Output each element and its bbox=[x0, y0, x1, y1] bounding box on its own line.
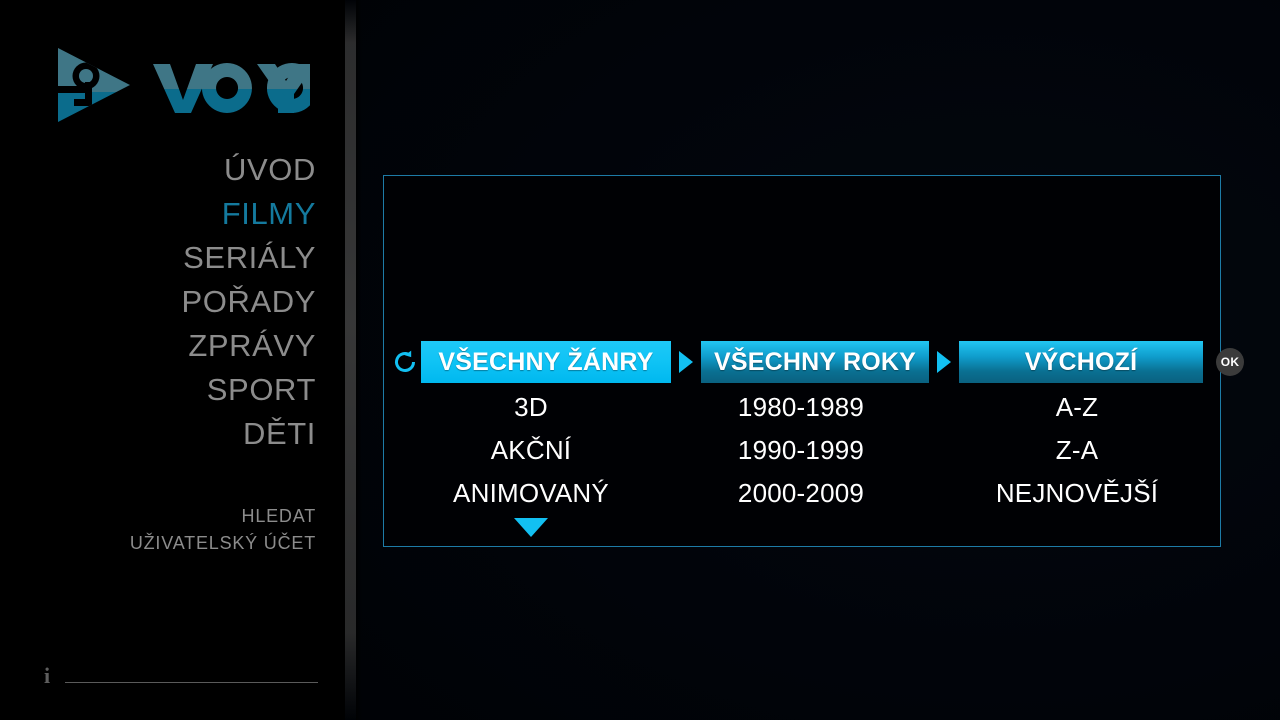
sidebar-item-deti[interactable]: DĚTI bbox=[16, 412, 316, 456]
ok-badge[interactable]: OK bbox=[1216, 348, 1244, 376]
sidebar-item-hledat[interactable]: HLEDAT bbox=[0, 503, 316, 530]
filter-separator-1 bbox=[671, 351, 701, 373]
main-navigation: ÚVOD FILMY SERIÁLY POŘADY ZPRÁVY SPORT D… bbox=[16, 148, 316, 456]
option-column-genre: 3D AKČNÍ ANIMOVANÝ bbox=[392, 386, 670, 537]
sidebar-item-sport[interactable]: SPORT bbox=[16, 368, 316, 412]
option-item[interactable]: NEJNOVĚJŠÍ bbox=[932, 472, 1222, 515]
sidebar-item-serialy[interactable]: SERIÁLY bbox=[16, 236, 316, 280]
filter-chip-years[interactable]: VŠECHNY ROKY bbox=[701, 341, 929, 383]
option-item[interactable]: Z-A bbox=[932, 429, 1222, 472]
info-divider bbox=[65, 682, 318, 683]
scroll-down-button[interactable] bbox=[392, 518, 670, 537]
option-item[interactable]: 2000-2009 bbox=[670, 472, 932, 515]
filter-options: 3D AKČNÍ ANIMOVANÝ 1980-1989 1990-1999 2… bbox=[392, 386, 1222, 537]
voyo-logo[interactable] bbox=[52, 44, 310, 126]
info-bar: i bbox=[44, 665, 324, 689]
sidebar-item-filmy[interactable]: FILMY bbox=[16, 192, 316, 236]
sidebar-divider bbox=[345, 0, 356, 720]
sidebar: ÚVOD FILMY SERIÁLY POŘADY ZPRÁVY SPORT D… bbox=[0, 0, 345, 720]
option-item[interactable]: 3D bbox=[392, 386, 670, 429]
option-item[interactable]: 1990-1999 bbox=[670, 429, 932, 472]
sidebar-item-porady[interactable]: POŘADY bbox=[16, 280, 316, 324]
triangle-down-icon bbox=[514, 518, 548, 537]
voyo-play-triangle-logo bbox=[52, 44, 310, 126]
reset-circular-arrow-icon bbox=[392, 349, 418, 375]
info-icon[interactable]: i bbox=[44, 665, 50, 687]
filter-bar: VŠECHNY ŽÁNRY VŠECHNY ROKY VÝCHOZÍ OK bbox=[392, 341, 1244, 383]
reset-icon[interactable] bbox=[392, 349, 418, 375]
filter-chip-genre[interactable]: VŠECHNY ŽÁNRY bbox=[421, 341, 671, 383]
option-item[interactable]: 1980-1989 bbox=[670, 386, 932, 429]
option-item[interactable]: A-Z bbox=[932, 386, 1222, 429]
option-item[interactable]: AKČNÍ bbox=[392, 429, 670, 472]
option-column-sort: A-Z Z-A NEJNOVĚJŠÍ bbox=[932, 386, 1222, 537]
option-item[interactable]: ANIMOVANÝ bbox=[392, 472, 670, 515]
filter-separator-2 bbox=[929, 351, 959, 373]
triangle-right-icon bbox=[679, 351, 693, 373]
option-column-years: 1980-1989 1990-1999 2000-2009 bbox=[670, 386, 932, 537]
sidebar-item-uvod[interactable]: ÚVOD bbox=[16, 148, 316, 192]
sidebar-item-uzivatelsky-ucet[interactable]: UŽIVATELSKÝ ÚČET bbox=[0, 530, 316, 557]
filter-chip-sort[interactable]: VÝCHOZÍ bbox=[959, 341, 1203, 383]
sidebar-item-zpravy[interactable]: ZPRÁVY bbox=[16, 324, 316, 368]
voyo-tv-app: ÚVOD FILMY SERIÁLY POŘADY ZPRÁVY SPORT D… bbox=[0, 0, 1280, 720]
secondary-navigation: HLEDAT UŽIVATELSKÝ ÚČET bbox=[0, 503, 316, 557]
triangle-right-icon bbox=[937, 351, 951, 373]
